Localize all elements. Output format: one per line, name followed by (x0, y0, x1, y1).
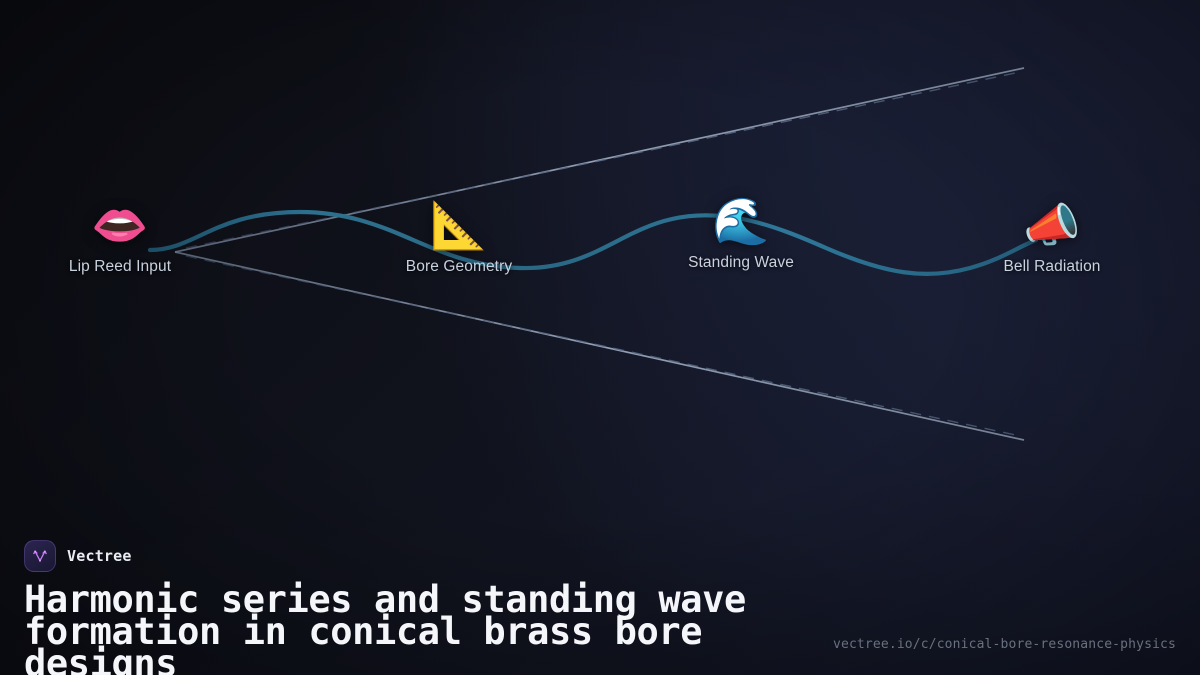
diagram-node-lip-reed-input[interactable]: 👄 Lip Reed Input (20, 198, 220, 276)
node-label-bell-radiation: Bell Radiation (952, 258, 1152, 276)
standing-wave-path (150, 212, 1036, 274)
water-wave-icon: 🌊 (641, 194, 841, 250)
triangular-ruler-icon: 📐 (359, 198, 559, 254)
node-label-lip-reed-input: Lip Reed Input (20, 258, 220, 276)
cone-inner-dashed-profile (186, 72, 1020, 436)
mouth-lips-icon: 👄 (20, 198, 220, 254)
cone-outline (175, 68, 1024, 440)
brand-row[interactable]: Vectree (24, 540, 132, 572)
vectree-v-tree-logo-icon (24, 540, 56, 572)
footer-url: vectree.io/c/conical-bore-resonance-phys… (833, 637, 1176, 652)
diagram-node-bell-radiation[interactable]: 📣 Bell Radiation (952, 198, 1152, 276)
footer: Vectree Harmonic series and standing wav… (0, 500, 1200, 675)
node-label-bore-geometry: Bore Geometry (359, 258, 559, 276)
page-title: Harmonic series and standing wave format… (24, 584, 784, 675)
node-label-standing-wave: Standing Wave (641, 254, 841, 272)
diagram-node-standing-wave[interactable]: 🌊 Standing Wave (641, 194, 841, 272)
brand-name: Vectree (67, 547, 132, 565)
megaphone-icon: 📣 (952, 198, 1152, 254)
diagram-node-bore-geometry[interactable]: 📐 Bore Geometry (359, 198, 559, 276)
